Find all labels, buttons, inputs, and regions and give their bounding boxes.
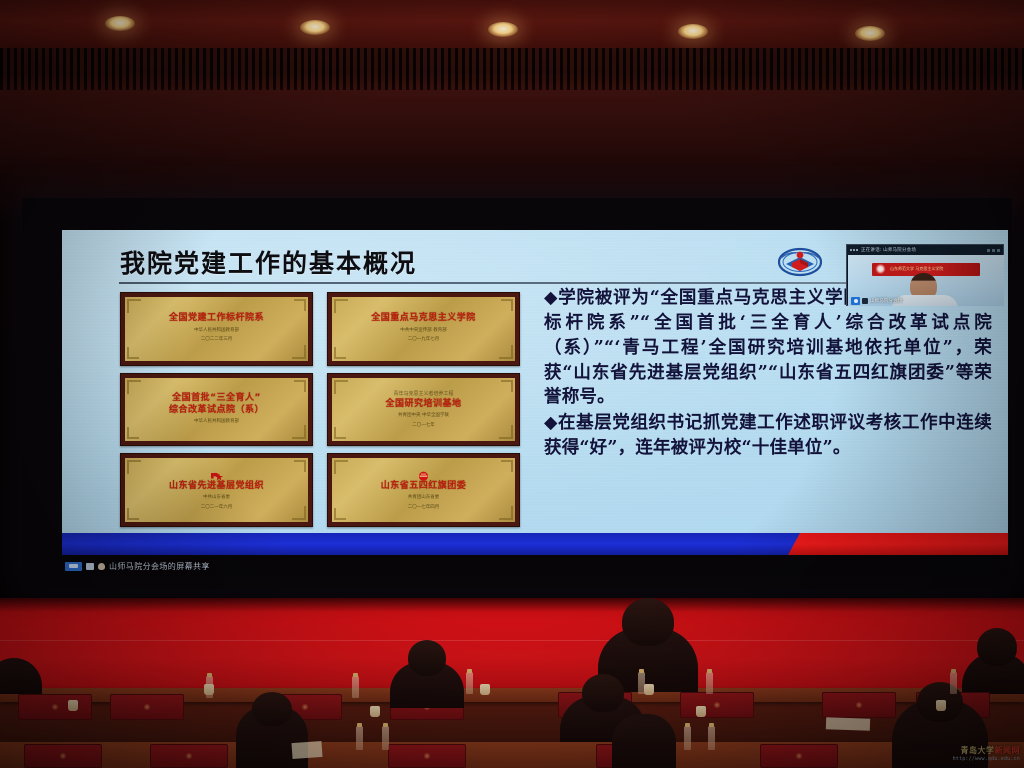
banner-text: 山东师范大学 马克思主义学院 (890, 267, 943, 272)
pip-window-controls[interactable] (987, 249, 1000, 252)
awards-plaque-grid: 全国党建工作标杆院系 中华人民共和国教育部 二〇二二年三月 全国重点马克思主义学… (120, 292, 520, 527)
tea-cup (68, 700, 78, 711)
audience-head (582, 674, 624, 712)
microphone-icon[interactable] (862, 298, 868, 304)
pip-participant-label: 山师马院分会场 (870, 298, 902, 304)
footer-bar-red (788, 533, 1008, 555)
chat-icon[interactable] (86, 563, 94, 570)
plaque-title: 山东省五四红旗团委 (381, 481, 467, 492)
audience-member (390, 662, 464, 708)
tea-cup (936, 700, 946, 711)
tea-cup (644, 684, 654, 695)
video-conference-pip[interactable]: 正在讲话: 山师马院分会场 山东师范大学 马克思主义学院 山师马院分会 (846, 244, 1004, 306)
seat-back (760, 744, 838, 768)
water-bottle (708, 726, 715, 750)
tea-cup (696, 706, 706, 717)
plaque-issuer: 中华人民共和国教育部 (194, 419, 239, 426)
plaque-subtitle: 青年马克思主义者培养工程 (393, 390, 453, 397)
screen-share-icon (65, 562, 82, 571)
ceiling-light (855, 26, 885, 41)
seat-back (822, 692, 896, 718)
plaque: 山东省先进基层党组织 中共山东省委 二〇二一年六月 (120, 453, 313, 527)
seat-back (18, 694, 92, 720)
pip-speaker-title: 正在讲话: 山师马院分会场 (861, 247, 916, 253)
seat-back (110, 694, 184, 720)
watermark-name-part1: 青岛大学 (961, 746, 995, 755)
communist-party-emblem-icon (209, 469, 225, 480)
tea-cup (480, 684, 490, 695)
ceiling-light (300, 20, 330, 35)
water-bottle (706, 672, 713, 694)
plaque-date: 二〇二二年三月 (201, 337, 233, 344)
auditorium-photo: 我院党建工作的基本概况 全国党建工作标杆院系 中华人民共和国教育部 (0, 0, 1024, 768)
body-paragraph-2: ◆在基层党组织书记抓党建工作述职评议考核工作中连续获得“好”，连年被评为校“十佳… (544, 411, 992, 461)
tea-cup (204, 684, 214, 695)
presentation-slide: 我院党建工作的基本概况 全国党建工作标杆院系 中华人民共和国教育部 (62, 230, 1008, 555)
water-bottle (382, 726, 389, 750)
watermark-name-part2: 新闻网 (995, 746, 1021, 755)
plaque: 全国党建工作标杆院系 中华人民共和国教育部 二〇二二年三月 (120, 292, 313, 366)
plaque: 山东省五四红旗团委 共青团山东省委 二〇一七年四月 (327, 453, 520, 527)
water-bottle (352, 676, 359, 698)
ceiling-light (488, 22, 518, 37)
watermark: 青岛大学新闻网 http://www.qdu.edu.cn (953, 746, 1020, 762)
document-sheet (291, 741, 322, 759)
plaque-title: 全国党建工作标杆院系 (169, 313, 264, 324)
stage-top-shadow (0, 598, 1024, 612)
plaque-issuer: 中共中央宣传部 教育部 (400, 328, 446, 335)
plaque: 全国首批“三全育人” 综合改革试点院（系） 中华人民共和国教育部 (120, 373, 313, 447)
plaque-date: 二〇一九年七月 (408, 337, 440, 344)
share-status-text: 山师马院分会场的屏幕共享 (109, 561, 210, 572)
ceiling-light (678, 24, 708, 39)
plaque: 全国重点马克思主义学院 中共中央宣传部 教育部 二〇一九年七月 (327, 292, 520, 366)
plaque-title: 全国重点马克思主义学院 (371, 313, 476, 324)
audience-member (612, 714, 676, 768)
pip-footer: 山师马院分会场 (849, 296, 904, 305)
plaque-title: 山东省先进基层党组织 (169, 481, 264, 492)
plaque-date: 二〇二一年六月 (201, 505, 233, 512)
water-bottle (466, 672, 473, 694)
audience-head (977, 628, 1017, 666)
watermark-site-name: 青岛大学新闻网 (953, 746, 1020, 756)
water-bottle (950, 672, 957, 694)
stage-seam-line (0, 640, 1024, 641)
menu-icon[interactable] (850, 249, 858, 251)
audience-head (252, 692, 292, 726)
audience-head (622, 598, 674, 646)
plaque-issuer: 共青团中央 中华全国学联 (398, 413, 449, 420)
tea-cup (370, 706, 380, 717)
pip-video-feed: 山东师范大学 马克思主义学院 山师马院分会场 (848, 255, 1004, 306)
slide-footer-bar (62, 533, 1008, 555)
plaque-issuer: 中华人民共和国教育部 (194, 328, 239, 335)
screen-share-status-bar: 山师马院分会场的屏幕共享 (62, 556, 1008, 576)
participant-badge-icon (851, 297, 860, 305)
ceiling-light (105, 16, 135, 31)
shandong-normal-university-logo (778, 242, 822, 282)
plaque-issuer: 共青团山东省委 (408, 495, 440, 502)
slide-title: 我院党建工作的基本概况 (120, 244, 417, 280)
seat-back (24, 744, 102, 768)
seat-back (150, 744, 228, 768)
university-seal-icon (875, 264, 886, 275)
youth-league-emblem-icon (416, 469, 431, 480)
plaque-issuer: 中共山东省委 (203, 495, 230, 502)
pip-header: 正在讲话: 山师马院分会场 (847, 245, 1003, 255)
raise-hand-icon[interactable] (98, 563, 105, 570)
plaque-title: 全国首批“三全育人” 综合改革试点院（系） (169, 393, 264, 416)
slide-body-text: ◆学院被评为“全国重点马克思主义学院”“全国党建工作标杆院系”“全国首批‘三全育… (544, 286, 992, 462)
plaque-title: 全国研究培训基地 (385, 399, 461, 410)
water-bottle (684, 726, 691, 750)
seat-back (388, 744, 466, 768)
document-sheet (826, 717, 870, 731)
plaque-date: 二〇一七年四月 (408, 505, 440, 512)
seat-back (680, 692, 754, 718)
plaque-date: 二〇一七年 (412, 423, 435, 430)
water-bottle (356, 726, 363, 750)
plaque: 青年马克思主义者培养工程 全国研究培训基地 共青团中央 中华全国学联 二〇一七年 (327, 373, 520, 447)
audience-head (408, 640, 446, 676)
curtain-valance (0, 48, 1024, 94)
watermark-url: http://www.qdu.edu.cn (953, 756, 1020, 762)
